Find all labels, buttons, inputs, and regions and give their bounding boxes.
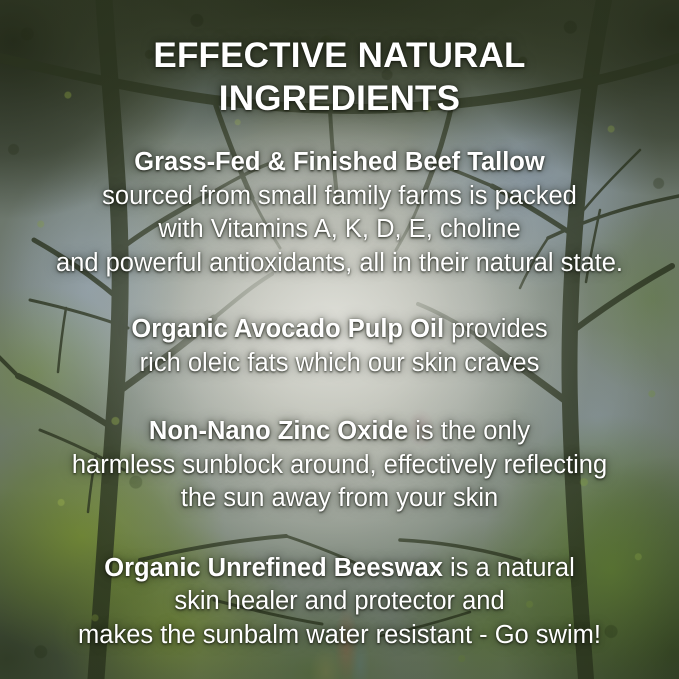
ingredient-line: harmless sunblock around, effectively re… <box>72 451 607 479</box>
ingredient-name-beef-tallow: Grass-Fed & Finished Beef Tallow <box>134 148 544 176</box>
ingredient-line: and powerful antioxidants, all in their … <box>56 249 623 277</box>
ingredient-line: skin healer and protector and <box>174 587 504 615</box>
ingredient-line: sourced from small family farms is packe… <box>102 182 577 210</box>
ingredient-line: is the only <box>408 417 530 445</box>
ingredient-line: rich oleic fats which our skin craves <box>140 349 540 377</box>
ingredient-line: with Vitamins A, K, D, E, choline <box>158 215 520 243</box>
poster-content: EFFECTIVE NATURAL INGREDIENTS Grass-Fed … <box>0 0 679 679</box>
ingredient-name-beeswax: Organic Unrefined Beeswax <box>104 554 443 582</box>
ingredient-block-beeswax: Organic Unrefined Beeswax is a natural s… <box>10 552 670 653</box>
ingredient-line: provides <box>444 315 547 343</box>
ingredient-name-avocado-oil: Organic Avocado Pulp Oil <box>131 315 444 343</box>
ingredient-block-zinc-oxide: Non-Nano Zinc Oxide is the only harmless… <box>10 415 670 516</box>
ingredient-line: is a natural <box>443 554 575 582</box>
page-title: EFFECTIVE NATURAL INGREDIENTS <box>125 0 555 120</box>
ingredients-poster: EFFECTIVE NATURAL INGREDIENTS Grass-Fed … <box>0 0 679 679</box>
ingredient-block-avocado-oil: Organic Avocado Pulp Oil provides rich o… <box>10 313 670 380</box>
ingredient-line: the sun away from your skin <box>181 484 498 512</box>
ingredient-block-beef-tallow: Grass-Fed & Finished Beef Tallow sourced… <box>10 146 670 280</box>
ingredient-line: makes the sunbalm water resistant - Go s… <box>78 621 601 649</box>
ingredient-name-zinc-oxide: Non-Nano Zinc Oxide <box>149 417 408 445</box>
